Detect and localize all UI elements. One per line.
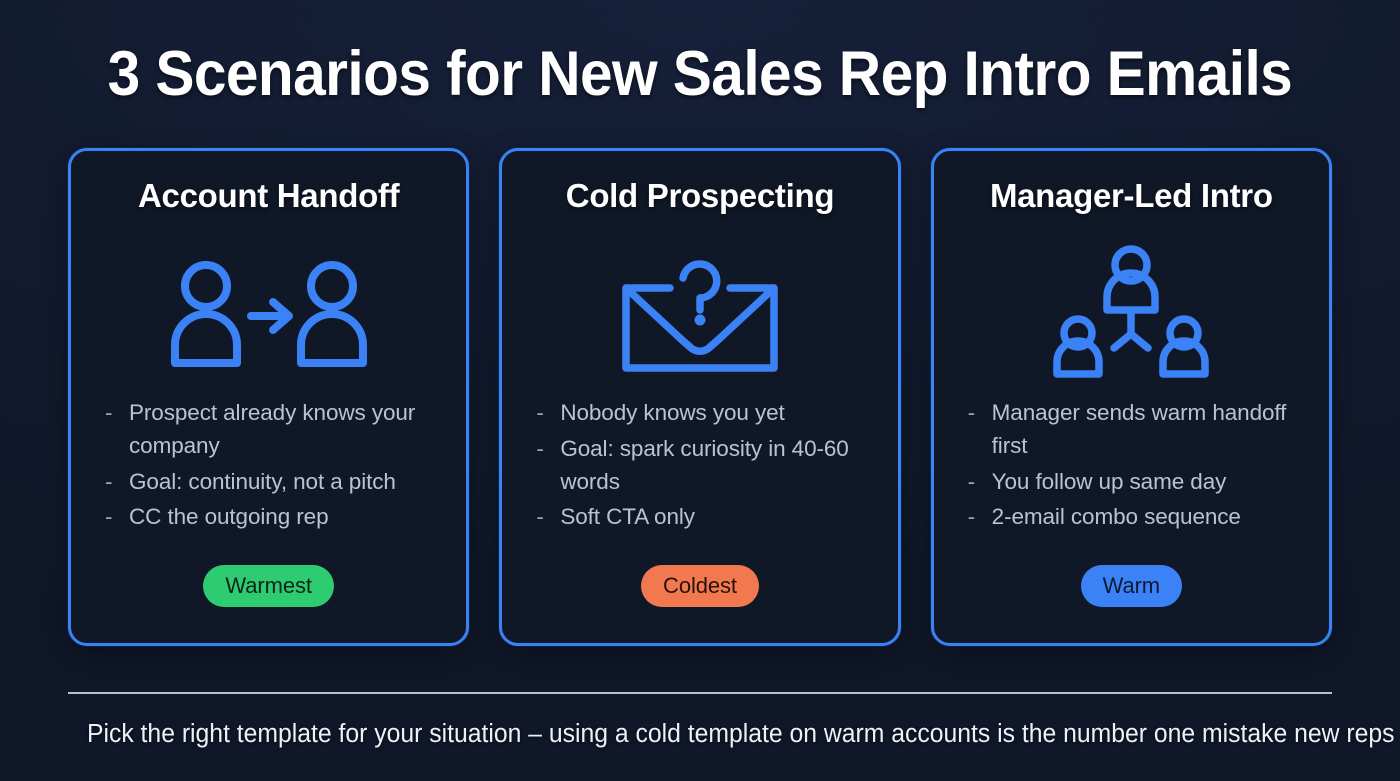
list-item: - 2-email combo sequence — [968, 501, 1307, 534]
bullet-marker: - — [968, 466, 992, 499]
bullet-marker: - — [536, 433, 560, 466]
bullet-text: Goal: continuity, not a pitch — [129, 466, 444, 499]
list-item: - You follow up same day — [968, 466, 1307, 499]
scenario-cards: Account Handoff - Prospect alre — [0, 148, 1400, 648]
list-item: - Manager sends warm handoff first — [968, 397, 1307, 463]
bullet-text: Goal: spark curiosity in 40-60 words — [560, 433, 875, 499]
bullet-marker: - — [105, 397, 129, 430]
footer: Pick the right template for your situati… — [0, 648, 1400, 781]
scenario-card-account-handoff[interactable]: Account Handoff - Prospect alre — [68, 148, 469, 646]
status-badge: Warmest — [203, 565, 333, 607]
org-chart-three-people-icon — [956, 239, 1307, 389]
badge-row: Coldest — [524, 565, 875, 607]
list-item: - CC the outgoing rep — [105, 501, 444, 534]
status-badge: Coldest — [641, 565, 759, 607]
bullet-marker: - — [536, 397, 560, 430]
list-item: - Nobody knows you yet — [536, 397, 875, 430]
card-bullets: - Nobody knows you yet - Goal: spark cur… — [524, 397, 875, 565]
bullet-text: CC the outgoing rep — [129, 501, 444, 534]
bullet-marker: - — [105, 501, 129, 534]
list-item: - Goal: spark curiosity in 40-60 words — [536, 433, 875, 499]
person-to-person-handoff-icon — [93, 239, 444, 389]
bullet-marker: - — [968, 397, 992, 430]
card-title: Manager-Led Intro — [990, 177, 1273, 215]
bullet-marker: - — [105, 466, 129, 499]
badge-row: Warmest — [93, 565, 444, 607]
bullet-text: Soft CTA only — [560, 501, 875, 534]
list-item: - Goal: continuity, not a pitch — [105, 466, 444, 499]
footer-note: Pick the right template for your situati… — [87, 720, 1313, 749]
list-item: - Soft CTA only — [536, 501, 875, 534]
bullet-text: Prospect already knows your company — [129, 397, 444, 463]
bullet-text: Manager sends warm handoff first — [992, 397, 1307, 463]
card-title: Cold Prospecting — [566, 177, 834, 215]
badge-row: Warm — [956, 565, 1307, 607]
bullet-marker: - — [968, 501, 992, 534]
status-badge: Warm — [1081, 565, 1182, 607]
infographic-page: 3 Scenarios for New Sales Rep Intro Emai… — [0, 0, 1400, 781]
bullet-text: 2-email combo sequence — [992, 501, 1307, 534]
card-bullets: - Prospect already knows your company - … — [93, 397, 444, 565]
card-bullets: - Manager sends warm handoff first - You… — [956, 397, 1307, 565]
list-item: - Prospect already knows your company — [105, 397, 444, 463]
scenario-card-cold-prospecting[interactable]: Cold Prospecting - Nobody knows — [499, 148, 900, 646]
page-title: 3 Scenarios for New Sales Rep Intro Emai… — [108, 38, 1293, 110]
bullet-text: Nobody knows you yet — [560, 397, 875, 430]
bullet-marker: - — [536, 501, 560, 534]
title-area: 3 Scenarios for New Sales Rep Intro Emai… — [0, 0, 1400, 148]
card-title: Account Handoff — [138, 177, 399, 215]
bullet-text: You follow up same day — [992, 466, 1307, 499]
envelope-question-icon — [524, 239, 875, 389]
footer-divider — [68, 692, 1332, 694]
scenario-card-manager-led-intro[interactable]: Manager-Led Intro - — [931, 148, 1332, 646]
